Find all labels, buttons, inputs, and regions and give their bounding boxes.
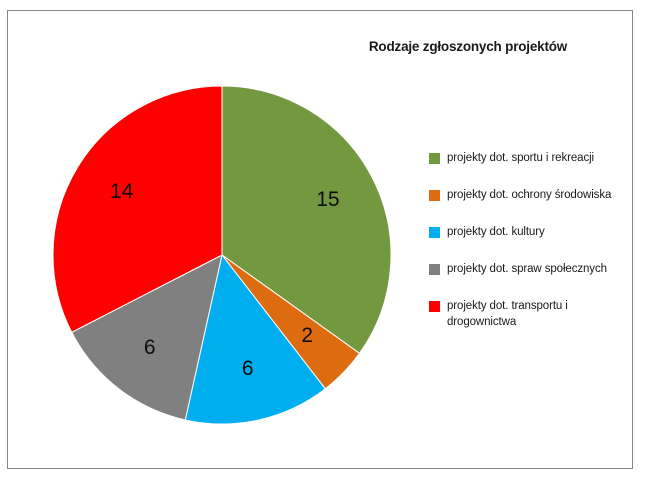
legend-item[interactable]: projekty dot. ochrony środowiska: [429, 188, 634, 204]
legend-item[interactable]: projekty dot. spraw społecznych: [429, 262, 634, 278]
legend-color-swatch-icon: [429, 153, 440, 164]
chart-title: Rodzaje zgłoszonych projektów: [308, 39, 628, 54]
legend-item[interactable]: projekty dot. sportu i rekreacji: [429, 151, 634, 167]
legend-item-label: projekty dot. transportu i drogownictwa: [447, 299, 634, 330]
legend-item-label: projekty dot. ochrony środowiska: [447, 188, 611, 204]
legend-item[interactable]: projekty dot. transportu i drogownictwa: [429, 299, 634, 330]
legend-color-swatch-icon: [429, 227, 440, 238]
chart-frame: Rodzaje zgłoszonych projektów 1526614 pr…: [7, 10, 633, 469]
legend-item-label: projekty dot. kultury: [447, 225, 545, 241]
legend-item[interactable]: projekty dot. kultury: [429, 225, 634, 241]
chart-legend: projekty dot. sportu i rekreacjiprojekty…: [429, 151, 634, 351]
legend-item-label: projekty dot. sportu i rekreacji: [447, 151, 594, 167]
legend-color-swatch-icon: [429, 190, 440, 201]
legend-item-label: projekty dot. spraw społecznych: [447, 262, 607, 278]
pie-chart[interactable]: 1526614: [46, 76, 396, 426]
pie-svg: [46, 76, 396, 426]
legend-color-swatch-icon: [429, 264, 440, 275]
legend-color-swatch-icon: [429, 301, 440, 312]
pie-slices: [53, 86, 391, 424]
